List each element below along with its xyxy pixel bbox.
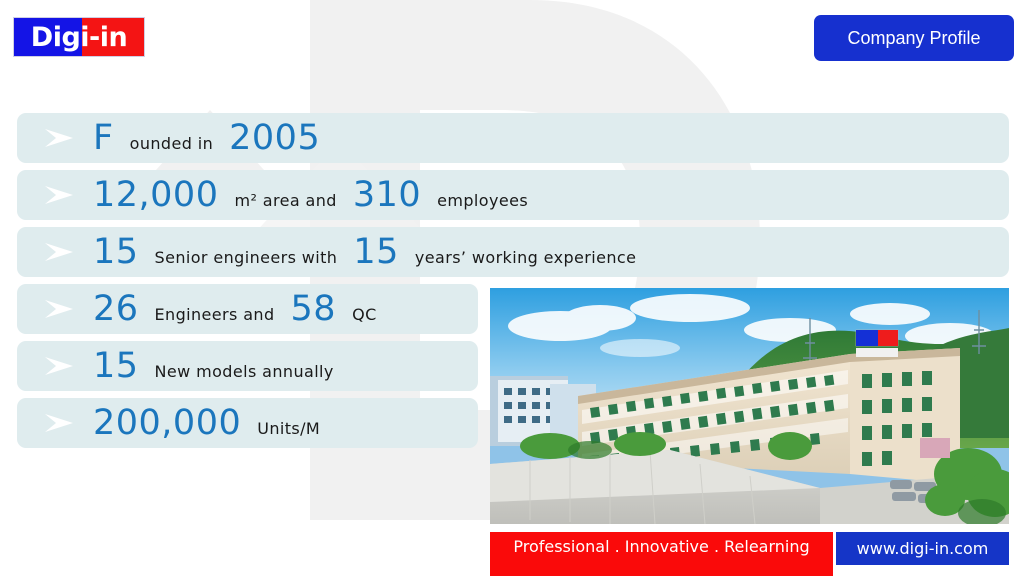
- fact-row: 26Engineers and58QC: [17, 284, 478, 334]
- fact-text: 200,000Units/M: [93, 406, 320, 441]
- fact-highlight-value: 15: [93, 349, 139, 384]
- fact-label: ounded in: [130, 136, 214, 152]
- fact-label: Senior engineers with: [155, 250, 338, 266]
- arrow-bullet-icon: [43, 298, 77, 320]
- rooftop-sign: [856, 330, 898, 357]
- fact-highlight-value: 200,000: [93, 406, 241, 441]
- fact-highlight-value: 310: [353, 178, 421, 213]
- fact-label: years’ working experience: [415, 250, 636, 266]
- arrow-bullet-icon: [43, 412, 77, 434]
- arrow-bullet-icon: [43, 184, 77, 206]
- arrow-bullet-icon: [43, 127, 77, 149]
- fact-label: QC: [352, 307, 377, 323]
- fact-row: 12,000m² area and310employees: [17, 170, 1009, 220]
- slide-canvas: Digi-in Company Profile Founded in200512…: [0, 0, 1024, 576]
- arrow-bullet-icon: [43, 355, 77, 377]
- fact-label: employees: [437, 193, 528, 209]
- fact-highlight-value: F: [93, 121, 114, 156]
- fact-row: 200,000Units/M: [17, 398, 478, 448]
- logo-text: Digi-in: [14, 18, 144, 56]
- company-profile-button[interactable]: Company Profile: [814, 15, 1014, 61]
- fact-highlight-value: 26: [93, 292, 139, 327]
- fact-text: 12,000m² area and310employees: [93, 178, 528, 213]
- fact-text: Founded in2005: [93, 121, 320, 156]
- fact-highlight-value: 12,000: [93, 178, 218, 213]
- arrow-bullet-icon: [43, 241, 77, 263]
- digi-in-logo: Digi-in: [14, 18, 144, 56]
- fact-row: 15New models annually: [17, 341, 478, 391]
- fact-label: Engineers and: [155, 307, 275, 323]
- fact-highlight-value: 15: [353, 235, 399, 270]
- fact-row: Founded in2005: [17, 113, 1009, 163]
- factory-photo: [490, 288, 1009, 524]
- fact-highlight-value: 15: [93, 235, 139, 270]
- website-link[interactable]: www.digi-in.com: [836, 532, 1009, 565]
- fact-highlight-value: 58: [291, 292, 337, 327]
- fact-label: New models annually: [155, 364, 334, 380]
- fact-label: Units/M: [257, 421, 320, 437]
- fact-row: 15Senior engineers with15years’ working …: [17, 227, 1009, 277]
- tagline-bar: Professional . Innovative . Relearning: [490, 532, 833, 576]
- fact-text: 26Engineers and58QC: [93, 292, 377, 327]
- fact-highlight-value: 2005: [229, 121, 320, 156]
- fact-text: 15Senior engineers with15years’ working …: [93, 235, 636, 270]
- fact-text: 15New models annually: [93, 349, 334, 384]
- fact-label: m² area and: [234, 193, 336, 209]
